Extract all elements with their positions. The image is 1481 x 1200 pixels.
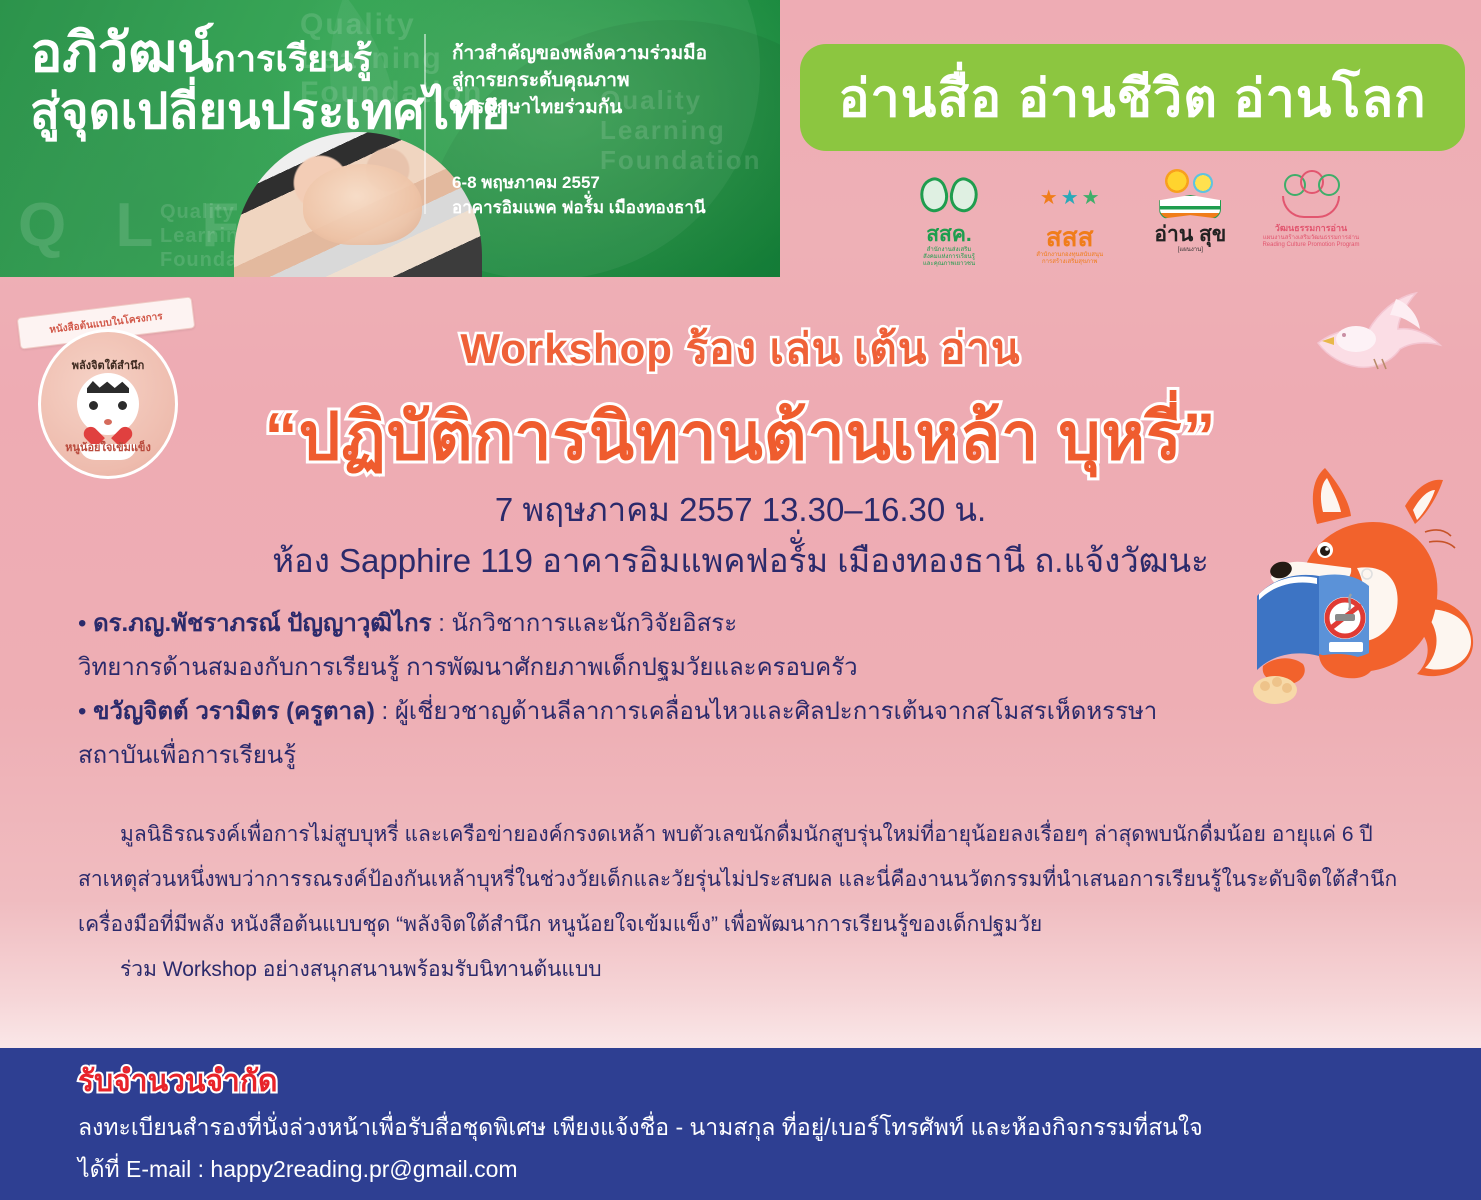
badge-circle: พลังจิตใต้สำนึก หนูน้อยใจเข้มแข็ง [38, 329, 178, 479]
registration-footer: รับจำนวนจำกัด ลงทะเบียนสำรองที่นั่งล่วงห… [0, 1048, 1481, 1200]
badge-arc-top-text: พลังจิตใต้สำนึก [41, 356, 175, 374]
event-venue: ห้อง Sapphire 119 อาคารอิมแพคฟอร์ั่ม เมื… [0, 534, 1481, 587]
speaker-role: : ผู้เชี่ยวชาญด้านลีลาการเคลื่อนไหวและศิ… [382, 698, 1158, 725]
sponsor-subtitle: สำนักงานกองทุนสนับสนุน การสร้างเสริมสุขภ… [1018, 252, 1122, 266]
stars-icon: ★★★ [1040, 166, 1100, 224]
sponsor-abbr: วัฒนธรรมการอ่าน [1275, 224, 1347, 233]
conference-title-line2: สู่จุดเปลี่ยนประเทศไทย [30, 88, 510, 137]
speaker-name: ขวัญจิตต์ วรามิตร (ครูตาล) [93, 698, 375, 725]
description-line-4: ร่วม Workshop อย่างสนุกสนานพร้อมรับนิทาน… [78, 947, 1408, 992]
speaker-bullet: • [78, 698, 86, 725]
footer-email-line[interactable]: ได้ที่ E-mail : happy2reading.pr@gmail.c… [78, 1152, 518, 1188]
footer-instructions: ลงทะเบียนสำรองที่นั่งล่วงหน้าเพื่อรับสื่… [78, 1110, 1203, 1146]
slogan-bar: อ่านสื่อ อ่านชีวิต อ่านโลก [800, 44, 1465, 151]
conference-title-line1: อภิวัฒน์การเรียนรู้ [30, 26, 510, 80]
sponsor-subtitle: สำนักงานส่งเสริม สังคมแห่งการเรียนรู้ แล… [897, 247, 1001, 268]
conference-banner: Q L F Quality Learning Foundation Qualit… [0, 0, 780, 277]
sponsor-logo-ansuk: อ่าน สุข [แผนงาน] [1136, 166, 1244, 254]
sponsor-abbr: สสส [1046, 224, 1094, 250]
speaker-item-2: • ขวัญจิตต์ วรามิตร (ครูตาล) : ผู้เชี่ยว… [78, 690, 1338, 734]
speaker-bullet: • [78, 610, 86, 637]
badge-arc-bottom-text: หนูน้อยใจเข้มแข็ง [41, 438, 175, 456]
speaker-item-1-continued: วิทยากรด้านสมองกับการเรียนรู้ การพัฒนาศั… [78, 646, 1338, 690]
poster-root: Q L F Quality Learning Foundation Qualit… [0, 0, 1481, 1200]
sponsor-logo-row: สสค. สำนักงานส่งเสริม สังคมแห่งการเรียนร… [895, 166, 1365, 270]
workshop-title-line1: Workshop ร้อง เล่น เต้น อ่าน [0, 316, 1481, 382]
slogan-text: อ่านสื่อ อ่านชีวิต อ่านโลก [838, 56, 1426, 139]
footer-heading: รับจำนวนจำกัด [78, 1058, 278, 1105]
conference-tagline: ก้าวสำคัญของพลังความร่วมมือ สู่การยกระดั… [452, 40, 707, 121]
sponsor-logo-reading-culture: วัฒนธรรมการอ่าน แผนงานสร้างเสริมวัฒนธรรม… [1257, 166, 1365, 249]
child-face-icon [77, 373, 139, 435]
conference-title: อภิวัฒน์การเรียนรู้ สู่จุดเปลี่ยนประเทศไ… [30, 26, 510, 137]
butterfly-icon [920, 166, 978, 224]
speaker-list: • ดร.ภญ.พัชราภรณ์ ปัญญาวุฒิไกร : นักวิชา… [78, 602, 1338, 778]
description-line-2: สาเหตุส่วนหนึ่งพบว่าการรณรงค์ป้องกันเหล้… [78, 857, 1408, 902]
conference-date-venue: 6-8 พฤษภาคม 2557 อาคารอิมแพค ฟอร์ั่ม เมื… [452, 170, 706, 220]
event-datetime: 7 พฤษภาคม 2557 13.30–16.30 น. [0, 483, 1481, 536]
description-paragraphs: มูลนิธิรณรงค์เพื่อการไม่สูบบุหรี่ และเคร… [78, 812, 1408, 992]
book-flower-icon [1159, 166, 1221, 224]
banner-divider [424, 34, 426, 214]
book-series-badge: หนังสือต้นแบบในโครงการ พลังจิตใต้สำนึก ห… [22, 305, 190, 485]
conference-title-suffix: การเรียนรู้ [214, 38, 372, 79]
sponsor-logo-sorsorkor: สสค. สำนักงานส่งเสริม สังคมแห่งการเรียนร… [895, 166, 1003, 268]
family-icon [1280, 166, 1342, 224]
conference-title-main: อภิวัฒน์ [30, 23, 214, 83]
speaker-item-1: • ดร.ภญ.พัชราภรณ์ ปัญญาวุฒิไกร : นักวิชา… [78, 602, 1338, 646]
sponsor-abbr: อ่าน สุข [1154, 224, 1226, 245]
description-line-3: เครื่องมือที่มีพลัง หนังสือต้นแบบชุด “พล… [78, 902, 1408, 947]
sponsor-abbr: สสค. [926, 224, 972, 245]
speaker-role: : นักวิชาการและนักวิจัยอิสระ [438, 610, 737, 637]
sponsor-logo-thaihealth: ★★★ สสส สำนักงานกองทุนสนับสนุน การสร้างเ… [1016, 166, 1124, 266]
workshop-title-line2: “ปฏิบัติการนิทานต้านเหล้า บุหรี่” [0, 384, 1481, 489]
sponsor-subtitle: แผนงานสร้างเสริมวัฒนธรรมการอ่าน Reading … [1259, 235, 1363, 249]
workshop-title-block: Workshop ร้อง เล่น เต้น อ่าน “ปฏิบัติการ… [0, 316, 1481, 489]
description-line-1: มูลนิธิรณรงค์เพื่อการไม่สูบบุหรี่ และเคร… [78, 812, 1408, 857]
sponsor-subtitle: [แผนงาน] [1138, 247, 1242, 254]
speaker-name: ดร.ภญ.พัชราภรณ์ ปัญญาวุฒิไกร [93, 610, 431, 637]
speaker-item-2-continued: สถาบันเพื่อการเรียนรู้ [78, 734, 1338, 778]
